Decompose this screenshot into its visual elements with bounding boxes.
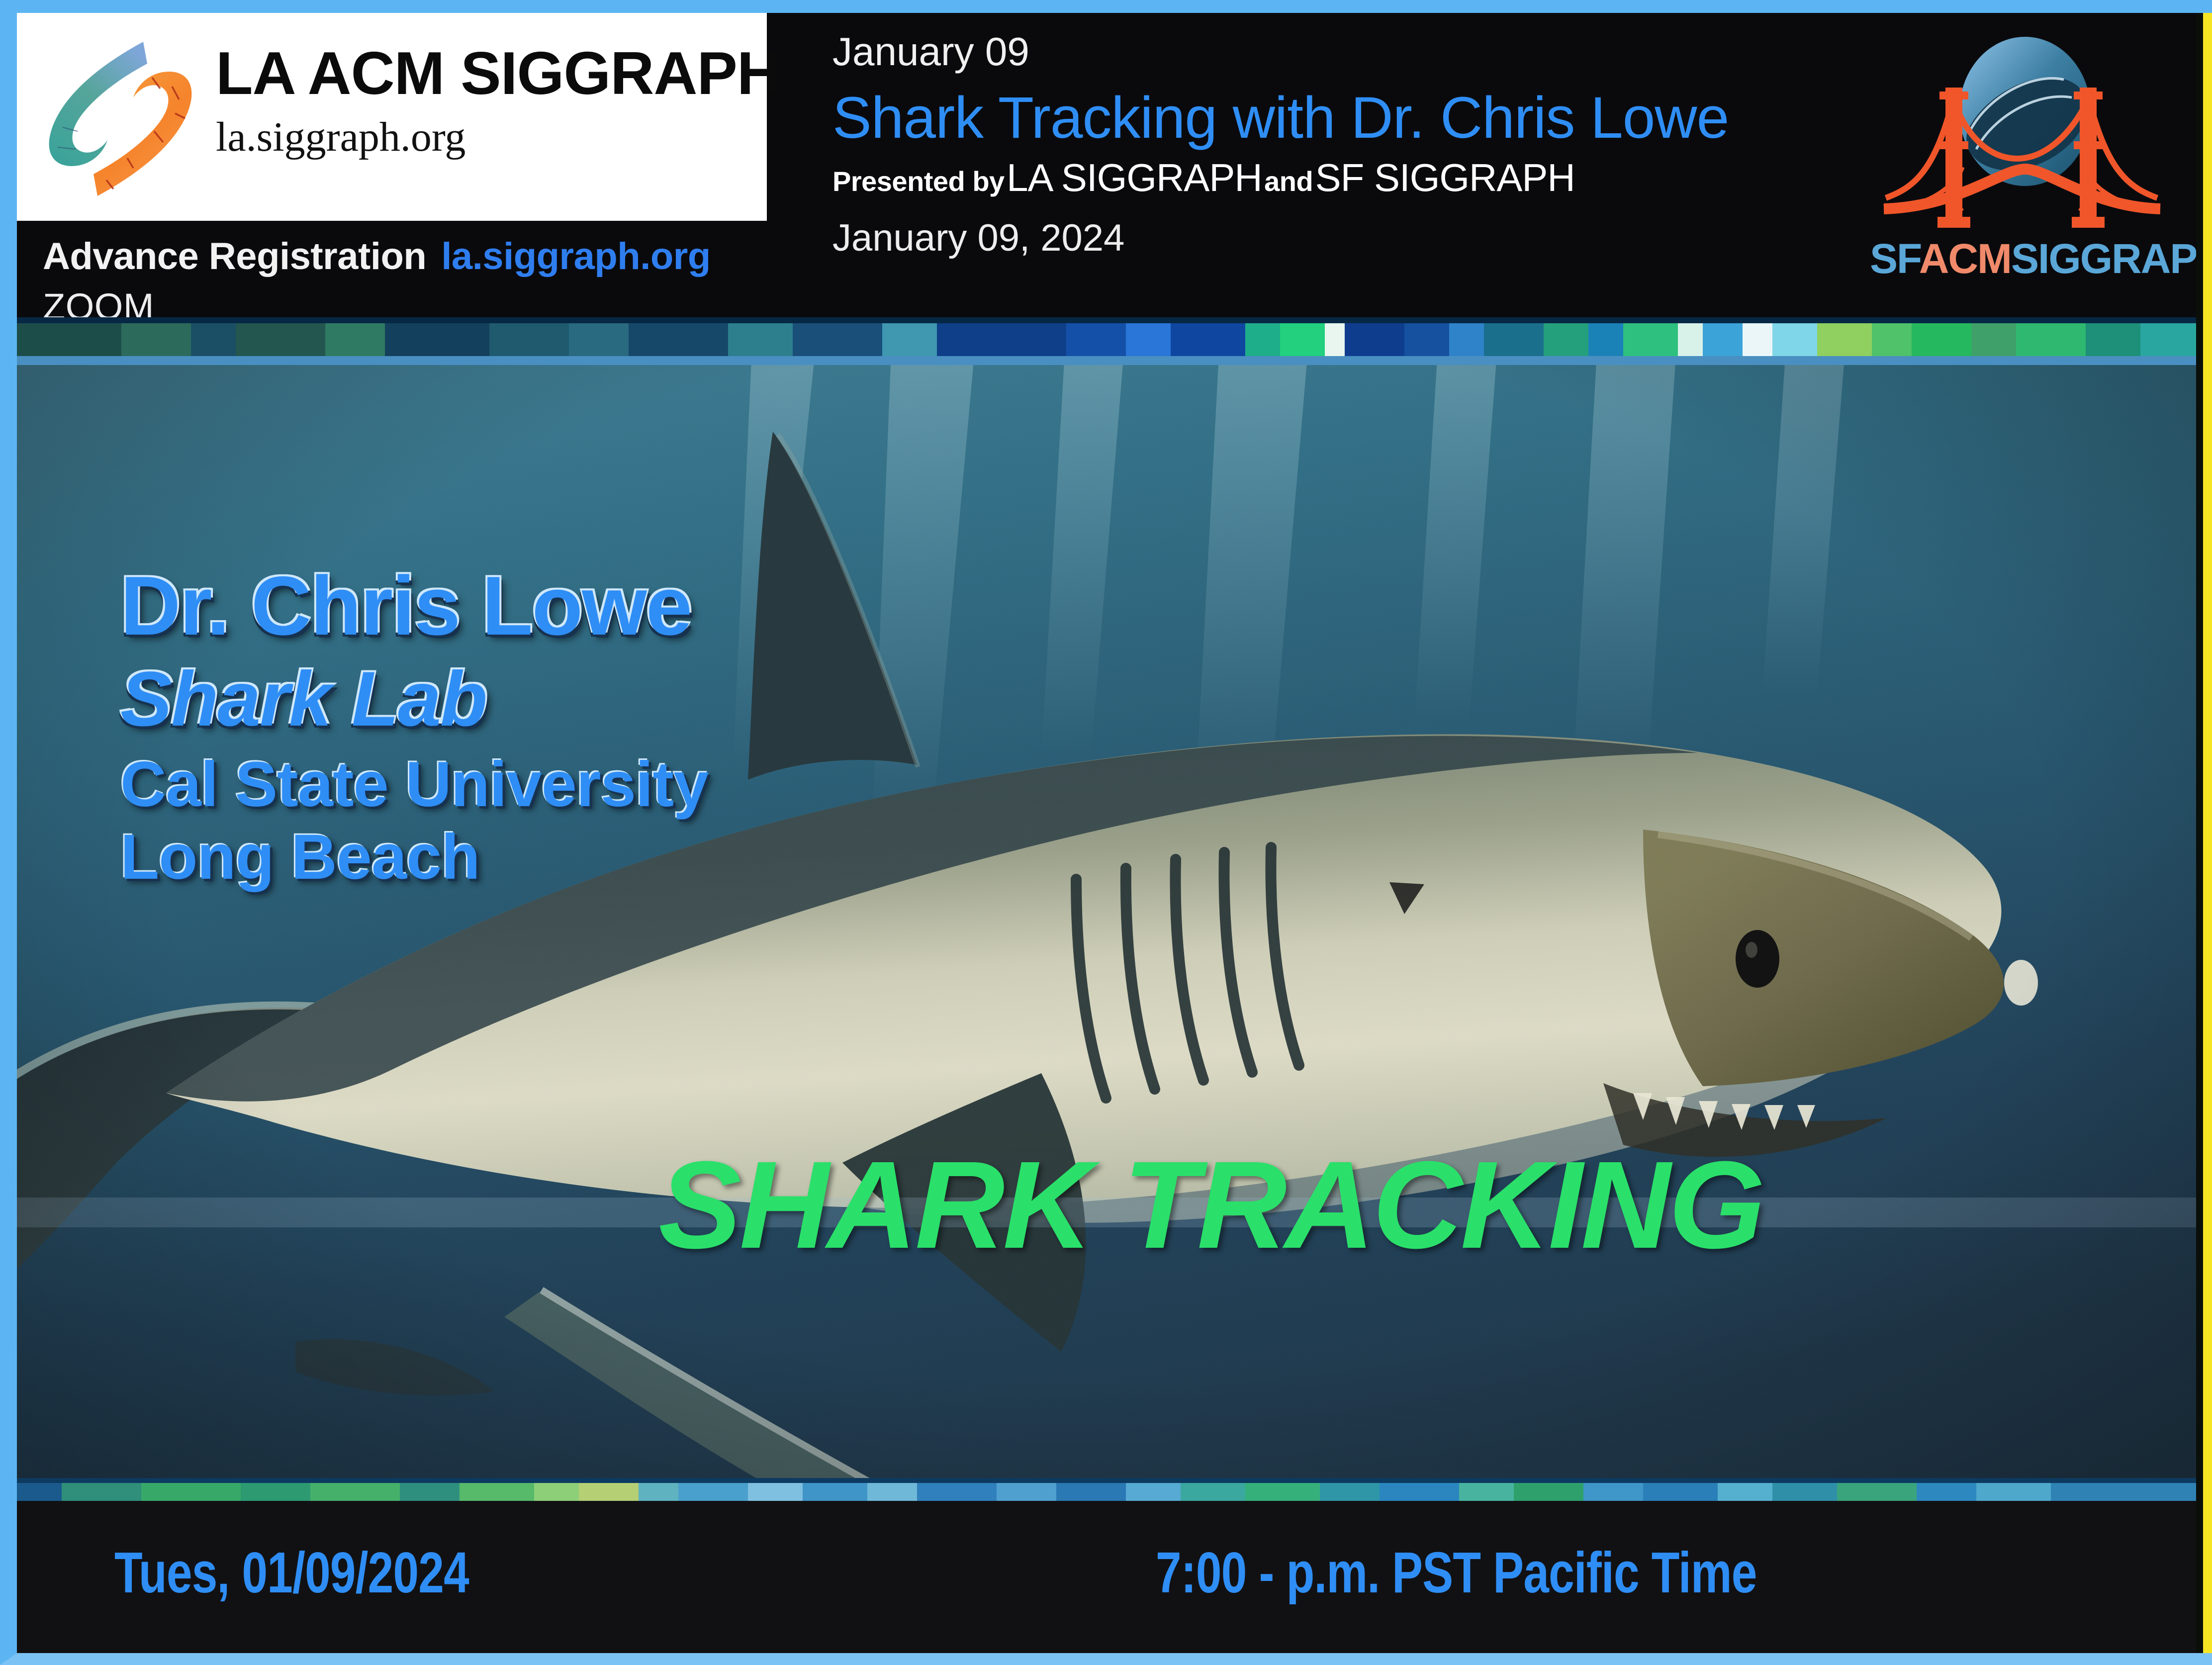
registration-block: Advance Registrationla.siggraph.org ZOOM [43, 238, 764, 325]
footer-event-time: 7:00 - p.m. PST Pacific Time [1156, 1544, 1757, 1601]
top-chroma-stripe-band [17, 317, 2203, 365]
presenter-la: LA SIGGRAPH [1007, 156, 1262, 199]
event-date-full: January 09, 2024 [832, 219, 1827, 257]
golden-gate-bridge-globe-icon [1883, 24, 2161, 243]
speaker-city: Long Beach [120, 824, 708, 891]
great-white-shark-underwater-illustration [17, 317, 2203, 1526]
sf-word-acm: ACM [1919, 235, 2011, 282]
right-dark-gap [2196, 13, 2203, 1653]
registration-label: Advance Registration [43, 235, 426, 277]
la-siggraph-wordmark: LA ACM SIGGRAPH la.siggraph.org [216, 43, 758, 158]
registration-url-link[interactable]: la.siggraph.org [441, 235, 710, 277]
flyer-header: LA ACM SIGGRAPH la.siggraph.org Advance … [17, 13, 2203, 317]
shark-photo: Dr. Chris Lowe Shark Lab Cal State Unive… [17, 317, 2203, 1526]
la-siggraph-url: la.siggraph.org [216, 116, 758, 158]
speaker-institution: Cal State University [120, 751, 708, 819]
event-info-block: January 09 Shark Tracking with Dr. Chris… [832, 31, 1827, 257]
presented-by-and: and [1264, 166, 1313, 197]
event-presenters: Presented by LA SIGGRAPH and SF SIGGRAPH [832, 157, 1827, 199]
footer-event-date: Tues, 01/09/2024 [114, 1544, 469, 1601]
event-flyer: LA ACM SIGGRAPH la.siggraph.org Advance … [0, 0, 2212, 1665]
right-yellow-edge [2203, 13, 2212, 1653]
speaker-info-overlay: Dr. Chris Lowe Shark Lab Cal State Unive… [120, 564, 708, 891]
event-title: Shark Tracking with Dr. Chris Lowe [832, 87, 1827, 150]
speaker-name: Dr. Chris Lowe [120, 564, 708, 647]
flyer-footer: Tues, 01/09/2024 7:00 - p.m. PST Pacific… [17, 1501, 2203, 1653]
sf-acm-siggraph-wordmark: SFACMSIGGRAPH [1870, 238, 2174, 279]
sf-word-sf: SF [1870, 235, 1919, 282]
speaker-lab: Shark Lab [120, 660, 708, 738]
presented-by-prefix: Presented by [832, 166, 1005, 197]
sf-acm-siggraph-logo: SFACMSIGGRAPH [1883, 24, 2161, 307]
shark-tracking-headline: SHARK TRACKING [658, 1143, 1763, 1267]
la-siggraph-title: LA ACM SIGGRAPH [216, 43, 758, 103]
la-siggraph-logo-panel: LA ACM SIGGRAPH la.siggraph.org [17, 13, 767, 221]
event-date-short: January 09 [832, 31, 1827, 73]
registration-line: Advance Registrationla.siggraph.org [43, 238, 764, 276]
sf-word-siggraph: SIGGRAPH [2011, 235, 2212, 282]
presenter-sf: SF SIGGRAPH [1315, 156, 1575, 199]
acm-siggraph-spiral-logo-icon [28, 22, 213, 212]
